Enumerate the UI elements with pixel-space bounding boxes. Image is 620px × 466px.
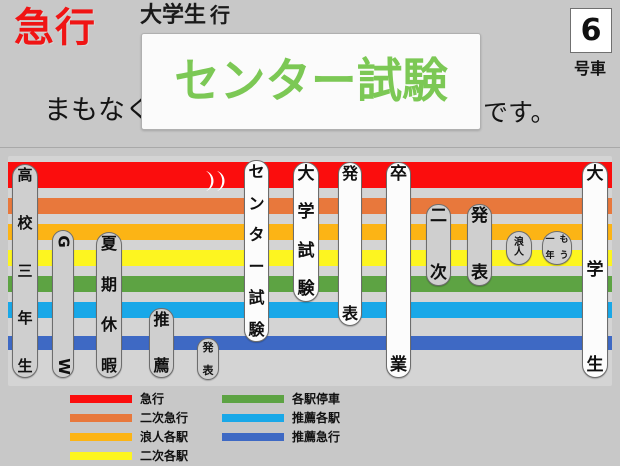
station-marker[interactable]: 二次 [426,204,451,286]
station-label-char: 卒 [390,166,407,183]
legend-color-swatch [222,433,284,441]
legend-color-swatch [70,414,132,422]
legend-column: 各駅停車推薦各駅推薦急行 [222,390,340,447]
station-marker[interactable]: 大学試験 [293,162,319,302]
legend-item: 各駅停車 [222,390,340,407]
station-marker[interactable]: 一も年う [542,231,572,265]
station-marker[interactable]: 発表 [467,204,492,286]
station-label-char: セ [248,164,264,180]
car-number-box: 6 [570,8,612,53]
station-label-char: 験 [298,281,315,298]
station-label-char: 三 [17,264,32,279]
station-label-char: 期 [101,277,117,293]
car-number-label: 号車 [567,55,613,79]
station-label-char: 発 [342,166,358,182]
legend-color-swatch [222,414,284,422]
station-label-char: 表 [342,306,358,322]
legend-color-swatch [70,433,132,441]
legend-label: 急行 [140,393,164,405]
legend-color-swatch [70,452,132,460]
station-label-char: 学 [587,262,604,279]
legend-color-swatch [70,395,132,403]
legend-label: 推薦各駅 [292,412,340,424]
station-label-char: 校 [17,216,32,231]
legend-item: 二次急行 [70,409,188,426]
legend-label: 推薦急行 [292,431,340,443]
legend-item: 推薦急行 [222,428,340,445]
station-label-char: 発 [471,208,488,225]
station-label-char: 学 [298,204,315,221]
station-marker[interactable]: 発表 [197,338,219,380]
station-marker[interactable]: 高校三年生 [12,164,38,378]
train-type-label: 急行 [14,8,96,48]
station-marker[interactable]: 夏期休暇 [96,232,122,378]
station-label-char: 二 [430,208,447,225]
destination-suffix-label: 行 [206,3,230,27]
station-label-char: 暇 [101,358,117,374]
station-marker[interactable]: 推薦 [149,308,174,378]
station-label-char: 表 [203,365,214,376]
station-label-char: 試 [248,290,264,306]
station-label-char: ン [248,196,264,212]
station-label-char: 生 [17,359,32,374]
legend-item: 推薦各駅 [222,409,340,426]
display-header: 急行 大学生行 まもなく センター試験 です。 6 号車 [0,0,620,148]
station-label: 一も年う [543,232,571,264]
station-label-char: 大 [298,166,315,183]
station-label-char: 夏 [101,236,117,252]
legend-label: 浪人各駅 [140,431,188,443]
station-label-char: ー [248,259,264,275]
station-label-char: G [56,235,71,247]
station-marker[interactable]: GW [52,230,74,378]
next-station-prefix: まもなく [44,97,152,124]
destination-label: 大学生 [140,3,206,28]
legend-item: 二次各駅 [70,447,188,464]
station-label-char: 次 [430,265,447,282]
train-information-display: 急行 大学生行 まもなく センター試験 です。 6 号車 高校三年生GW夏期休暇… [0,0,620,465]
next-station-suffix: です。 [483,100,556,125]
station-label-char: 生 [587,357,604,374]
next-station-name: センター試験 [174,58,448,105]
header-divider [0,147,620,148]
station-label-char: タ [248,227,264,243]
station-marker[interactable]: 発表 [338,162,362,326]
station-label-char: 試 [298,243,315,260]
legend-item: 急行 [70,390,188,407]
destination-line: 大学生行 [140,4,230,28]
station-label-char: 高 [17,168,32,183]
station-label-char: W [55,358,70,375]
station-label-char: 表 [471,265,488,282]
station-label-char: 発 [203,342,214,353]
legend-label: 二次各駅 [140,450,188,462]
station-marker[interactable]: 浪人 [506,231,532,265]
legend-label: 二次急行 [140,412,188,424]
next-station-box: センター試験 [141,33,481,130]
station-label: 浪人 [507,232,531,264]
station-marker[interactable]: 卒業 [386,162,411,378]
station-label-char: 推 [153,312,169,328]
station-marker[interactable]: センター試験 [244,160,269,342]
route-legend: 急行二次急行浪人各駅二次各駅各駅停車推薦各駅推薦急行 [70,390,370,460]
station-label-char: 業 [390,357,407,374]
legend-color-swatch [222,395,284,403]
station-label-char: 休 [101,317,117,333]
car-number: 6 [581,16,602,46]
station-label-char: 年 [17,311,32,326]
station-label-char: 薦 [153,358,169,374]
station-marker[interactable]: 大学生 [582,162,608,378]
station-label-char: 大 [587,166,604,183]
route-map: 高校三年生GW夏期休暇推薦発表センター試験大学試験発表卒業二次発表浪人一も年う大… [8,156,612,386]
legend-label: 各駅停車 [292,393,340,405]
legend-item: 浪人各駅 [70,428,188,445]
legend-column: 急行二次急行浪人各駅二次各駅 [70,390,188,466]
station-label-char: 験 [248,322,264,338]
